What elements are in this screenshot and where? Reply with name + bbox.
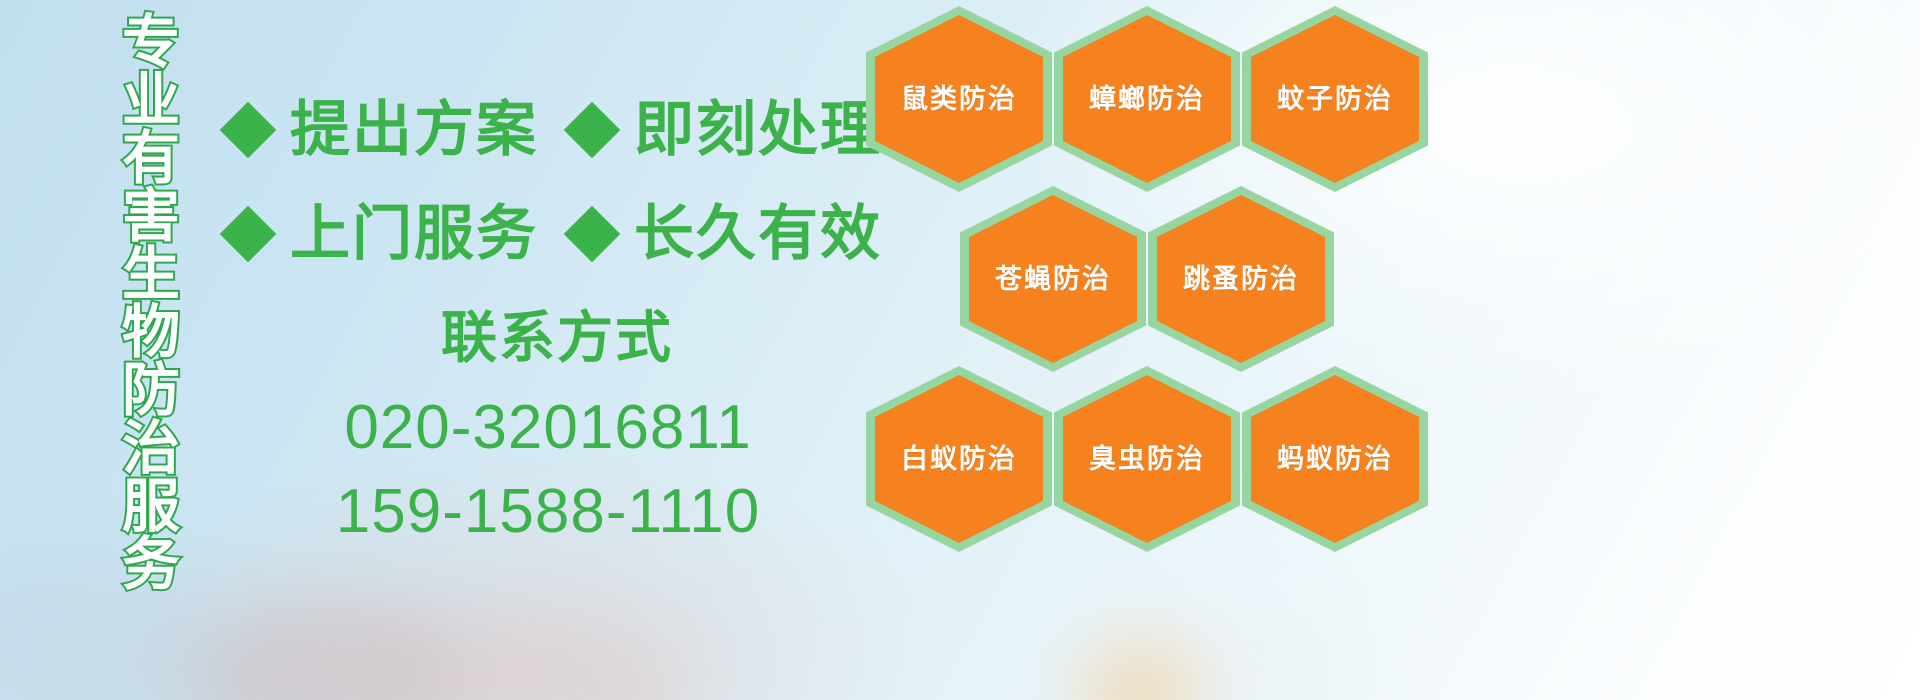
feature-label: 长久有效: [634, 204, 882, 264]
service-label: 跳蚤防治: [1183, 266, 1299, 293]
background-blur-blob: [1080, 640, 1200, 700]
background-blur-blob: [170, 600, 470, 700]
service-honeycomb: 鼠类防治 蟑螂防治 蚊子防治 苍蝇防治 跳蚤防治 白蚁防治 臭虫防治: [862, 0, 1462, 570]
diamond-bullet-icon: [220, 102, 277, 159]
service-hex-rodent[interactable]: 鼠类防治: [866, 6, 1052, 192]
vertical-slogan-char: 物: [122, 304, 180, 362]
service-label: 蟑螂防治: [1089, 86, 1205, 113]
service-label: 苍蝇防治: [995, 266, 1111, 293]
service-hex-flea[interactable]: 跳蚤防治: [1148, 186, 1334, 372]
vertical-slogan-char: 防: [122, 362, 180, 420]
background-blur-blob: [430, 630, 690, 700]
feature-label: 即刻处理: [634, 100, 882, 160]
feature-row: 提出方案 即刻处理: [228, 78, 868, 182]
feature-row: 上门服务 长久有效: [228, 182, 868, 286]
vertical-slogan-char: 治: [122, 420, 180, 478]
vertical-slogan-char: 服: [122, 478, 180, 536]
vertical-slogan-char: 业: [122, 72, 180, 130]
service-label: 蚂蚁防治: [1277, 446, 1393, 473]
service-hex-ant[interactable]: 蚂蚁防治: [1242, 366, 1428, 552]
feature-list: 提出方案 即刻处理 上门服务 长久有效: [228, 78, 868, 286]
phone-number-mobile[interactable]: 159-1588-1110: [228, 470, 868, 554]
feature-label: 上门服务: [290, 204, 538, 264]
service-hex-termite[interactable]: 白蚁防治: [866, 366, 1052, 552]
vertical-slogan-char: 有: [122, 130, 180, 188]
service-hex-cockroach[interactable]: 蟑螂防治: [1054, 6, 1240, 192]
diamond-bullet-icon: [220, 206, 277, 263]
vertical-slogan-char: 专: [122, 14, 180, 72]
service-hex-bedbug[interactable]: 臭虫防治: [1054, 366, 1240, 552]
background-blur-blob: [1050, 600, 1350, 700]
contact-title: 联系方式: [246, 306, 868, 370]
vertical-slogan-char: 害: [122, 188, 180, 246]
service-label: 蚊子防治: [1277, 86, 1393, 113]
vertical-slogan-char: 生: [122, 246, 180, 304]
service-label: 鼠类防治: [901, 86, 1017, 113]
background-blur-blob: [0, 560, 220, 700]
contact-block: 联系方式 020-32016811 159-1588-1110: [228, 306, 868, 554]
diamond-bullet-icon: [564, 206, 621, 263]
vertical-slogan: 专 业 有 害 生 物 防 治 服 务: [112, 14, 190, 560]
service-label: 臭虫防治: [1089, 446, 1205, 473]
service-hex-fly[interactable]: 苍蝇防治: [960, 186, 1146, 372]
diamond-bullet-icon: [564, 102, 621, 159]
vertical-slogan-char: 务: [122, 536, 180, 594]
phone-number-landline[interactable]: 020-32016811: [228, 386, 868, 470]
service-hex-mosquito[interactable]: 蚊子防治: [1242, 6, 1428, 192]
service-label: 白蚁防治: [901, 446, 1017, 473]
pest-control-banner: 专 业 有 害 生 物 防 治 服 务 提出方案 即刻处理 上门服务 长久有效 …: [0, 0, 1920, 700]
feature-label: 提出方案: [290, 100, 538, 160]
